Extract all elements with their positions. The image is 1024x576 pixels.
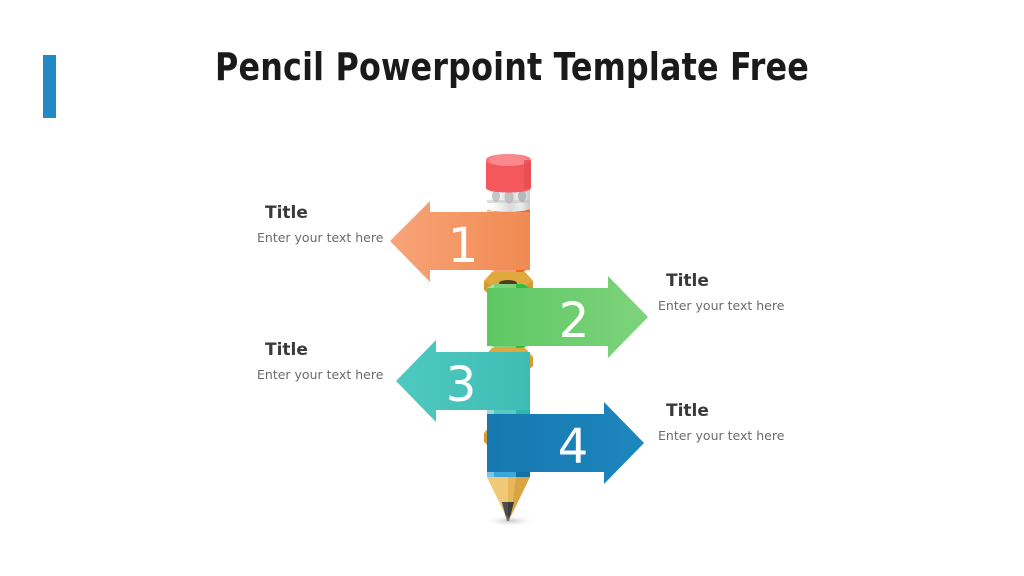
pencil-infographic: 1 2 3 4 (0, 0, 1024, 576)
arrow-step-2-number: 2 (559, 293, 590, 349)
step-label-4: Title Enter your text here (658, 401, 784, 445)
step-label-1: Title Enter your text here (257, 203, 383, 247)
slide-canvas: Pencil Powerpoint Template Free (0, 0, 1024, 576)
arrow-step-3[interactable]: 3 (396, 340, 530, 422)
arrow-step-4[interactable]: 4 (487, 402, 644, 484)
step-2-subtitle: Enter your text here (658, 297, 784, 315)
step-1-title: Title (265, 203, 383, 223)
pencil-tip (487, 477, 530, 521)
arrow-step-2[interactable]: 2 (487, 276, 648, 358)
step-3-title: Title (265, 340, 383, 360)
step-4-title: Title (666, 401, 784, 421)
step-label-3: Title Enter your text here (257, 340, 383, 384)
step-label-2: Title Enter your text here (658, 271, 784, 315)
step-1-subtitle: Enter your text here (257, 229, 383, 247)
pencil-shadow (483, 515, 537, 527)
arrow-step-1-number: 1 (448, 218, 479, 274)
arrow-step-3-number: 3 (446, 357, 477, 413)
step-3-subtitle: Enter your text here (257, 366, 383, 384)
pencil-eraser (486, 154, 531, 193)
arrow-step-1[interactable]: 1 (390, 201, 530, 282)
step-4-subtitle: Enter your text here (658, 427, 784, 445)
step-2-title: Title (666, 271, 784, 291)
arrow-step-4-number: 4 (558, 419, 589, 475)
